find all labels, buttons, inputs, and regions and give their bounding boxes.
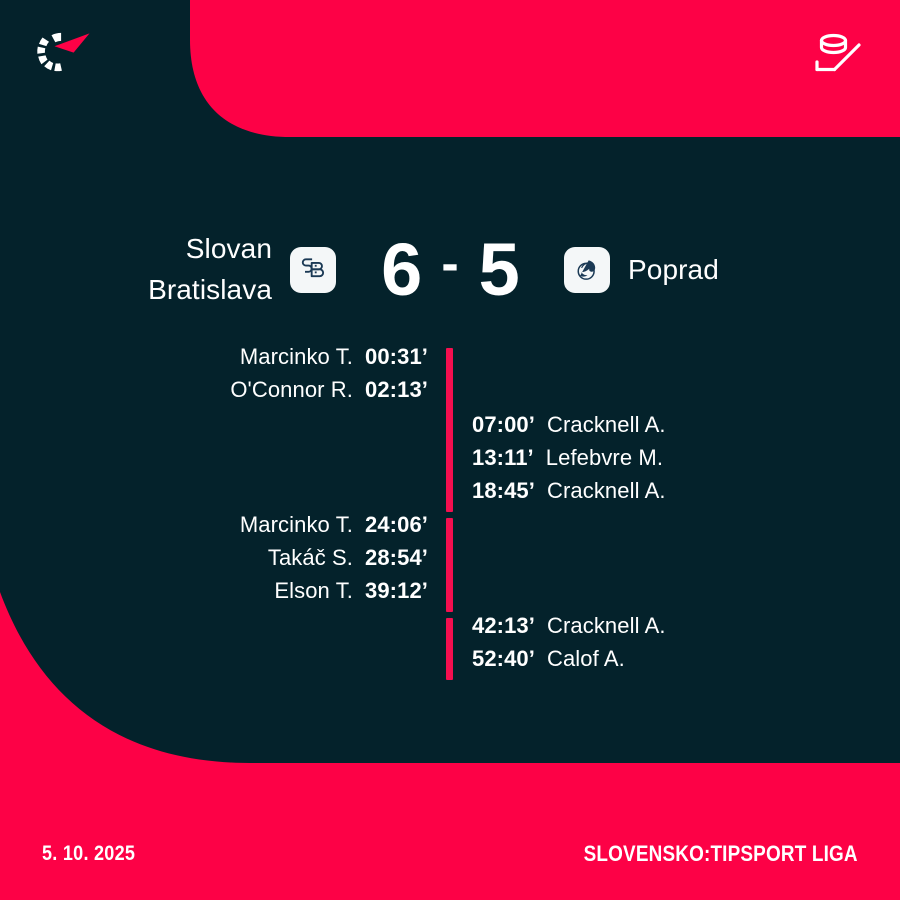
goal-group: Marcinko T. 00:31’ O'Connor R. 02:13’ [0, 344, 900, 410]
goal-time: 52:40’ [472, 646, 535, 672]
goal-group-column-home: Marcinko T. 24:06’ Takáč S. 28:54’ Elson… [0, 512, 450, 611]
poprad-crest-icon [572, 255, 602, 285]
goal-group-column-home [0, 613, 450, 679]
goal-entry: O'Connor R. 02:13’ [0, 377, 428, 410]
goal-time: 24:06’ [365, 512, 428, 538]
goal-time: 00:31’ [365, 344, 428, 370]
match-summary-graphic: Slovan Bratislava 6 - 5 [0, 0, 900, 900]
slovan-bratislava-crest-icon [297, 254, 329, 286]
goal-scorer: Calof A. [547, 646, 625, 672]
home-score: 6 [381, 233, 421, 307]
away-team-crest [564, 247, 610, 293]
score-separator: - [441, 238, 458, 290]
hockey-stick-puck-icon [806, 28, 868, 82]
goal-scorer: Marcinko T. [240, 344, 353, 370]
goal-group-column-away [450, 512, 900, 611]
goal-scorer: Marcinko T. [240, 512, 353, 538]
goal-time: 18:45’ [472, 478, 535, 504]
goal-group-column-away [450, 344, 900, 410]
goal-group-column-away: 07:00’ Cracknell A. 13:11’ Lefebvre M. 1… [450, 412, 900, 511]
goal-time: 28:54’ [365, 545, 428, 571]
home-team-name-line2: Bratislava [82, 270, 272, 311]
goal-entry: 42:13’ Cracknell A. [472, 613, 900, 646]
goal-group-column-home [0, 412, 450, 511]
goal-entry: Takáč S. 28:54’ [0, 545, 428, 578]
match-date: 5. 10. 2025 [42, 842, 135, 866]
goal-scorer: Cracknell A. [547, 412, 666, 438]
goal-time: 42:13’ [472, 613, 535, 639]
goals-timeline: Marcinko T. 00:31’ O'Connor R. 02:13’ 07… [0, 340, 900, 679]
gametime-swoosh-logo [26, 24, 98, 80]
scoreline: Slovan Bratislava 6 - 5 [0, 222, 900, 318]
home-team-crest [290, 247, 336, 293]
goal-group: Marcinko T. 24:06’ Takáč S. 28:54’ Elson… [0, 512, 900, 611]
league-name: SLOVENSKO:TIPSPORT LIGA [584, 841, 858, 867]
goal-scorer: Takáč S. [268, 545, 353, 571]
goal-time: 13:11’ [472, 445, 534, 471]
goal-scorer: Elson T. [274, 578, 353, 604]
footer-bar: 5. 10. 2025 SLOVENSKO:TIPSPORT LIGA [0, 808, 900, 900]
goal-entry: Elson T. 39:12’ [0, 578, 428, 611]
goal-group-column-home: Marcinko T. 00:31’ O'Connor R. 02:13’ [0, 344, 450, 410]
goal-time: 07:00’ [472, 412, 535, 438]
goal-group: 42:13’ Cracknell A. 52:40’ Calof A. [0, 613, 900, 679]
home-team-name: Slovan Bratislava [82, 229, 290, 310]
goal-scorer: Cracknell A. [547, 478, 666, 504]
goal-scorer: O'Connor R. [230, 377, 353, 403]
goal-entry: 52:40’ Calof A. [472, 646, 900, 679]
goal-entry: 18:45’ Cracknell A. [472, 478, 900, 511]
goal-entry: Marcinko T. 00:31’ [0, 344, 428, 377]
goal-group: 07:00’ Cracknell A. 13:11’ Lefebvre M. 1… [0, 412, 900, 511]
goal-time: 39:12’ [365, 578, 428, 604]
goal-group-column-away: 42:13’ Cracknell A. 52:40’ Calof A. [450, 613, 900, 679]
header-bar [0, 0, 900, 110]
score-figures: 6 - 5 [350, 233, 550, 307]
away-team-name: Poprad [610, 250, 818, 291]
goal-entry: 13:11’ Lefebvre M. [472, 445, 900, 478]
goal-scorer: Cracknell A. [547, 613, 666, 639]
goal-entry: Marcinko T. 24:06’ [0, 512, 428, 545]
goal-time: 02:13’ [365, 377, 428, 403]
goal-scorer: Lefebvre M. [546, 445, 663, 471]
home-team-name-line1: Slovan [82, 229, 272, 270]
away-score: 5 [479, 233, 519, 307]
goal-entry: 07:00’ Cracknell A. [472, 412, 900, 445]
